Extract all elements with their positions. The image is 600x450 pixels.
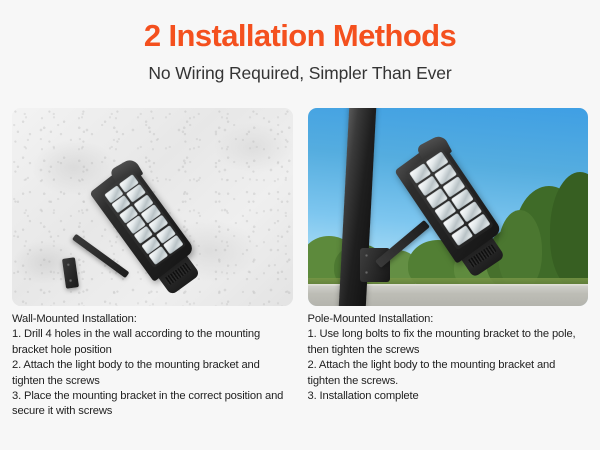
wall-instructions-step-2: 2. Attach the light body to the mounting… (12, 358, 293, 389)
pole-mounted-instructions: Pole-Mounted Installation: 1. Use long b… (308, 312, 589, 442)
plate-bolt-top (67, 263, 70, 266)
page-title: 2 Installation Methods (0, 0, 600, 54)
infographic-page: 2 Installation Methods No Wiring Require… (0, 0, 600, 450)
pole-instructions-heading: Pole-Mounted Installation: (308, 312, 589, 327)
wall-mounted-photo (12, 108, 293, 306)
wall-instructions-step-1: 1. Drill 4 holes in the wall according t… (12, 327, 293, 358)
wall-instructions-heading: Wall-Mounted Installation: (12, 312, 293, 327)
page-subtitle: No Wiring Required, Simpler Than Ever (0, 54, 600, 84)
wall-mounted-instructions: Wall-Mounted Installation: 1. Drill 4 ho… (12, 312, 293, 442)
pole-instructions-step-1: 1. Use long bolts to fix the mounting br… (308, 327, 589, 358)
photo-panels (12, 108, 588, 306)
pole-mounted-photo (308, 108, 589, 306)
pole-instructions-step-2: 2. Attach the light body to the mounting… (308, 358, 589, 389)
instruction-blocks: Wall-Mounted Installation: 1. Drill 4 ho… (12, 312, 588, 442)
wall-instructions-step-3: 3. Place the mounting bracket in the cor… (12, 389, 293, 420)
header: 2 Installation Methods No Wiring Require… (0, 0, 600, 84)
clamp-bolt-top (365, 254, 368, 257)
plate-bolt-bottom (69, 279, 72, 282)
pole-instructions-step-3: 3. Installation complete (308, 389, 589, 404)
clamp-bolt-bottom (365, 271, 368, 274)
